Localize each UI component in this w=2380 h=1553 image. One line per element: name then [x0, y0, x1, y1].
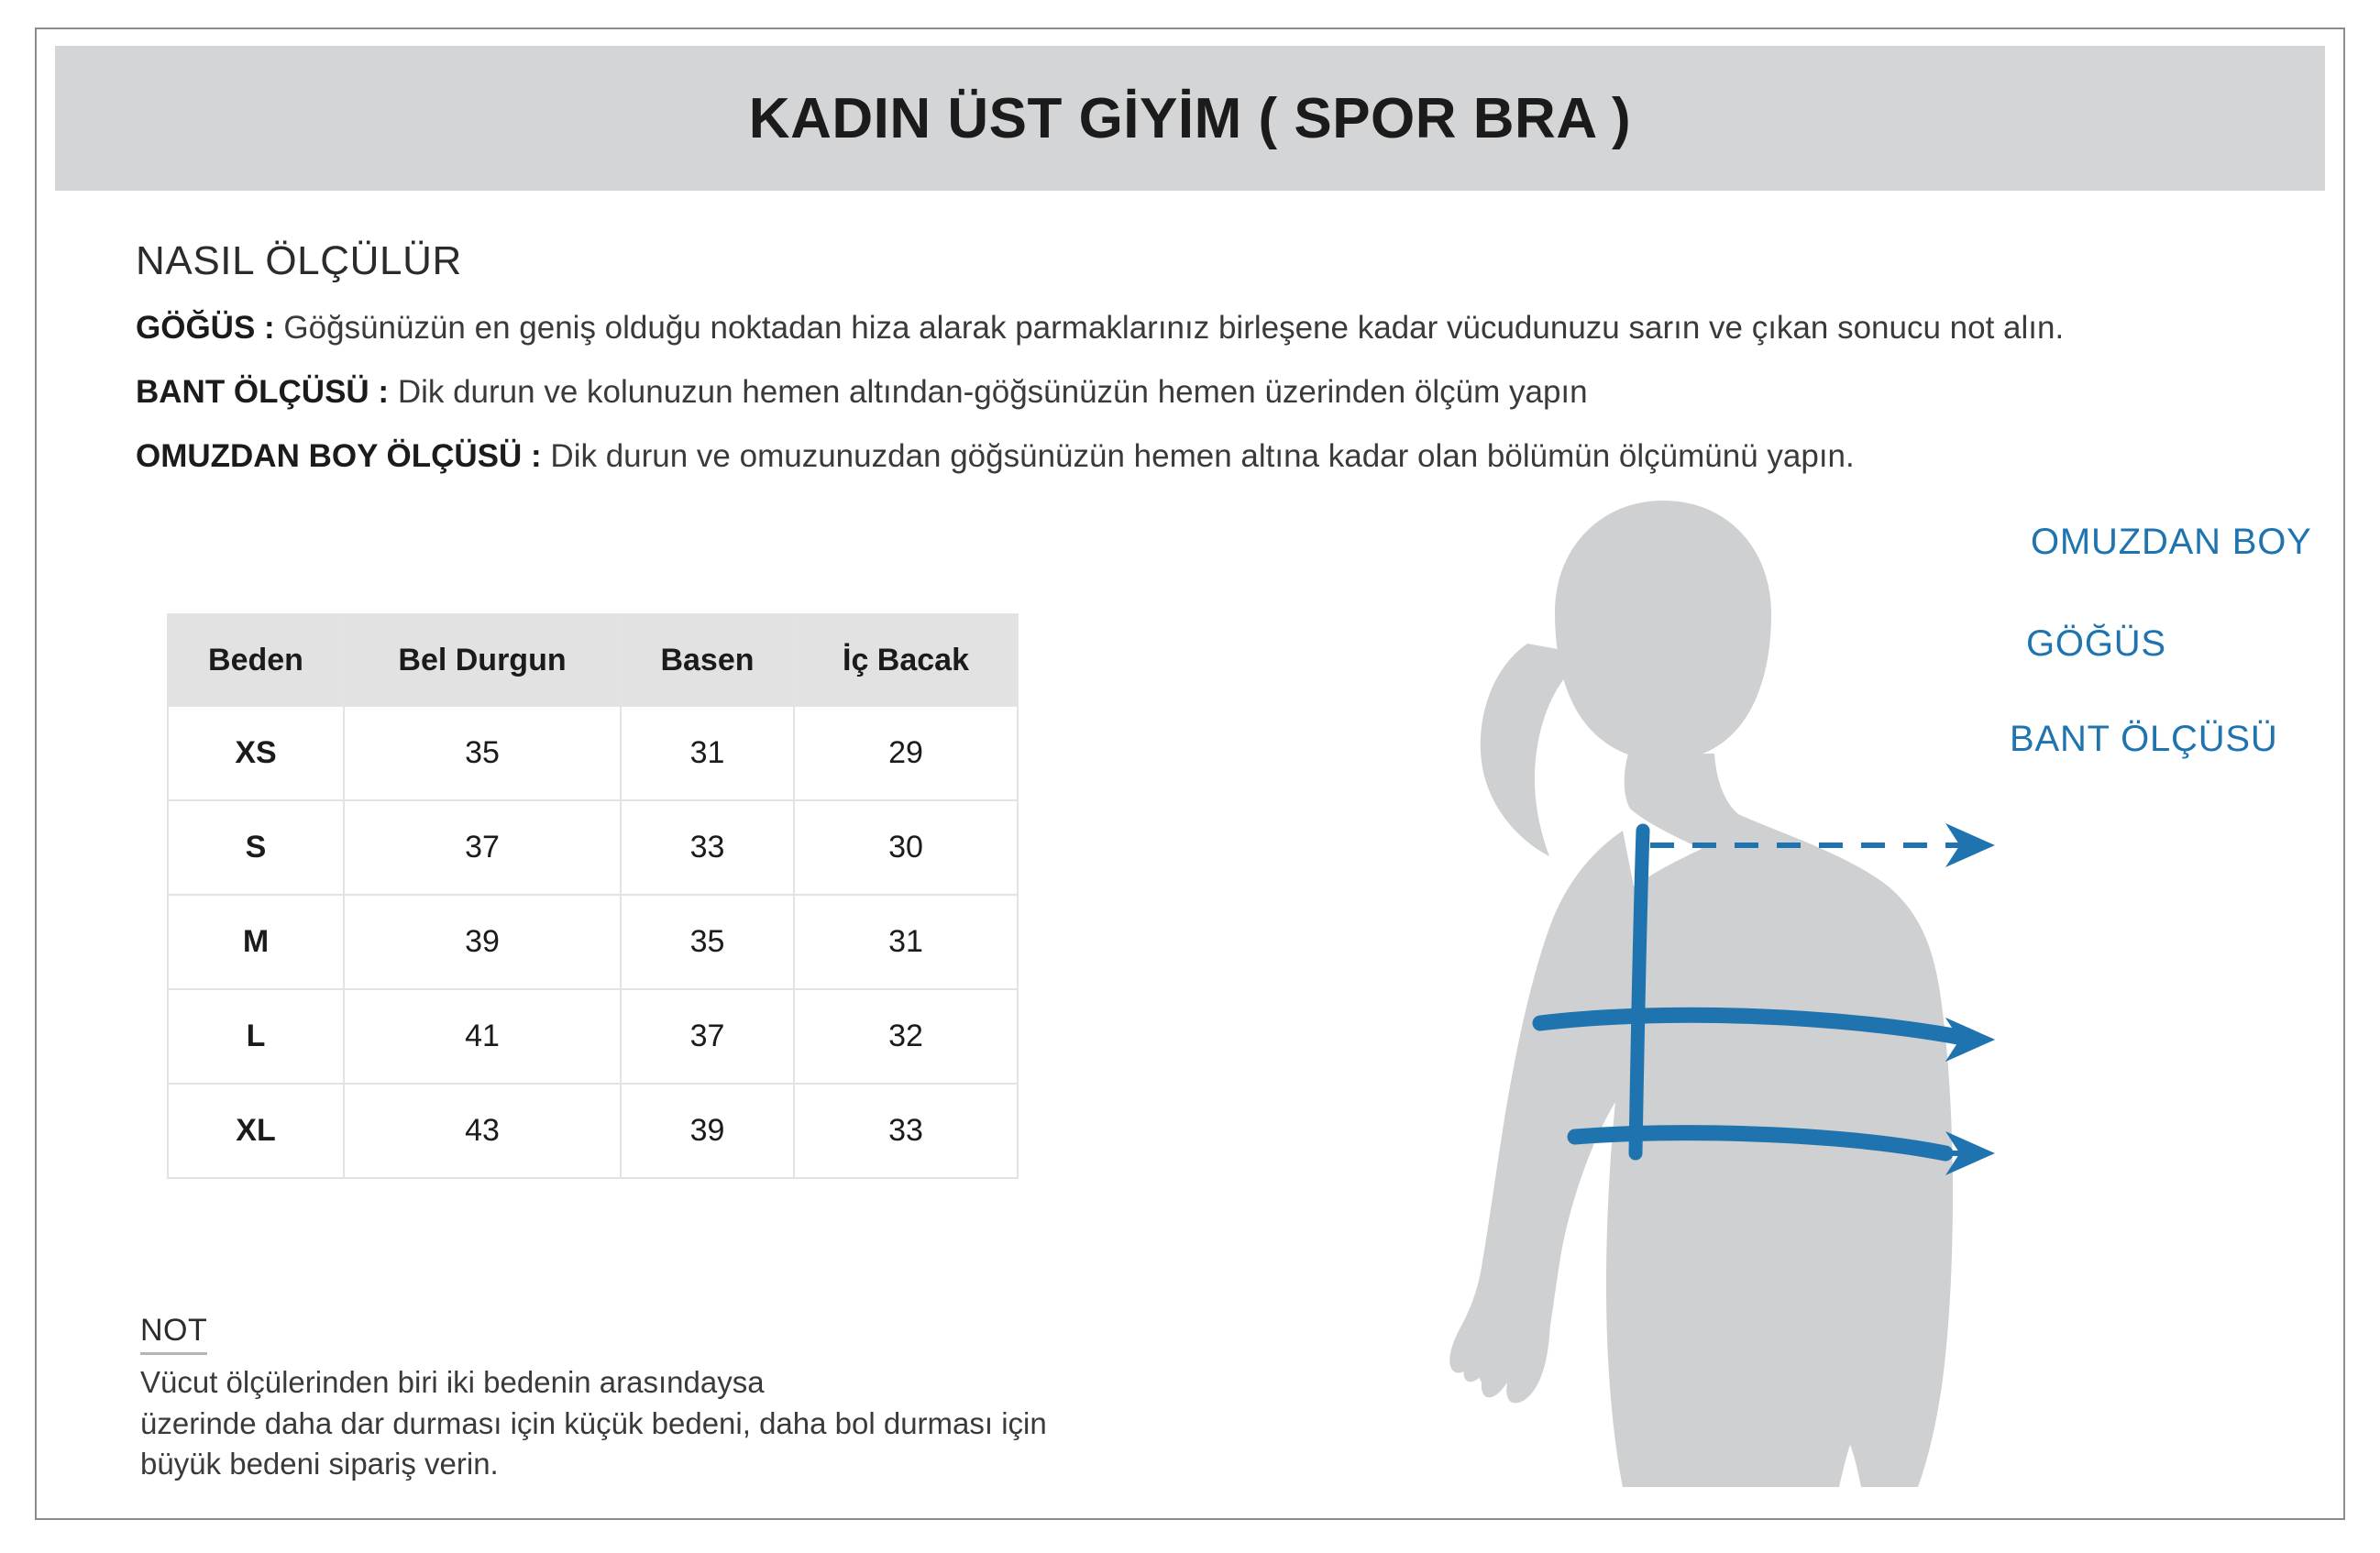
cell-bel-durgun: 41 [344, 989, 621, 1084]
measure-label-bant: BANT ÖLÇÜSÜ : [136, 374, 389, 410]
measure-label-omuzdan-boy: OMUZDAN BOY ÖLÇÜSÜ : [136, 438, 542, 474]
cell-bel-durgun: 43 [344, 1084, 621, 1178]
size-chart-page: KADIN ÜST GİYİM ( SPOR BRA ) NASIL ÖLÇÜL… [35, 28, 2345, 1520]
note-line-2: üzerinde daha dar durması için küçük bed… [140, 1404, 1332, 1445]
cell-beden: XL [168, 1084, 344, 1178]
size-table: Beden Bel Durgun Basen İç Bacak XS 35 31… [167, 613, 1019, 1179]
cell-ic-bacak: 32 [794, 989, 1018, 1084]
cell-basen: 31 [621, 706, 794, 800]
note-line-3: büyük bedeni sipariş verin. [140, 1444, 1332, 1485]
header-band: KADIN ÜST GİYİM ( SPOR BRA ) [55, 46, 2325, 191]
table-row: XL 43 39 33 [168, 1084, 1018, 1178]
measure-label-gogus: GÖĞÜS : [136, 310, 275, 346]
female-silhouette-icon [1449, 501, 1953, 1487]
table-row: S 37 33 30 [168, 800, 1018, 895]
cell-ic-bacak: 31 [794, 895, 1018, 989]
note-title: NOT [140, 1313, 207, 1355]
cell-beden: XS [168, 706, 344, 800]
note-body: Vücut ölçülerinden biri iki bedenin aras… [140, 1362, 1332, 1485]
page-title: KADIN ÜST GİYİM ( SPOR BRA ) [749, 86, 1631, 151]
note-section: NOT Vücut ölçülerinden biri iki bedenin … [140, 1313, 1332, 1485]
cell-basen: 35 [621, 895, 794, 989]
table-row: XS 35 31 29 [168, 706, 1018, 800]
cell-basen: 39 [621, 1084, 794, 1178]
measure-line-bant: BANT ÖLÇÜSÜ : Dik durun ve kolunuzun hem… [136, 372, 2244, 413]
cell-ic-bacak: 29 [794, 706, 1018, 800]
cell-beden: M [168, 895, 344, 989]
measurement-figure: OMUZDAN BOY GÖĞÜS BANT ÖLÇÜSÜ [1348, 460, 2319, 1524]
cell-basen: 33 [621, 800, 794, 895]
callout-label-gogus: GÖĞÜS [2026, 623, 2166, 665]
measure-text-gogus: Göğsünüzün en geniş olduğu noktadan hiza… [275, 310, 2065, 346]
measure-text-bant: Dik durun ve kolunuzun hemen altından-gö… [389, 374, 1588, 410]
measure-line-gogus: GÖĞÜS : Göğsünüzün en geniş olduğu nokta… [136, 308, 2244, 348]
column-header-basen: Basen [621, 614, 794, 706]
callout-label-omuzdan-boy: OMUZDAN BOY [2031, 522, 2312, 563]
cell-bel-durgun: 39 [344, 895, 621, 989]
cell-beden: S [168, 800, 344, 895]
note-line-1: Vücut ölçülerinden biri iki bedenin aras… [140, 1362, 1332, 1404]
column-header-bel-durgun: Bel Durgun [344, 614, 621, 706]
cell-ic-bacak: 33 [794, 1084, 1018, 1178]
shoulder-strap-line [1636, 831, 1643, 1153]
cell-bel-durgun: 37 [344, 800, 621, 895]
table-row: L 41 37 32 [168, 989, 1018, 1084]
callout-label-bant-olcusu: BANT ÖLÇÜSÜ [2010, 719, 2278, 760]
cell-basen: 37 [621, 989, 794, 1084]
column-header-ic-bacak: İç Bacak [794, 614, 1018, 706]
column-header-beden: Beden [168, 614, 344, 706]
how-to-measure-heading: NASIL ÖLÇÜLÜR [136, 238, 2244, 284]
cell-beden: L [168, 989, 344, 1084]
table-row: M 39 35 31 [168, 895, 1018, 989]
cell-bel-durgun: 35 [344, 706, 621, 800]
table-header-row: Beden Bel Durgun Basen İç Bacak [168, 614, 1018, 706]
cell-ic-bacak: 30 [794, 800, 1018, 895]
